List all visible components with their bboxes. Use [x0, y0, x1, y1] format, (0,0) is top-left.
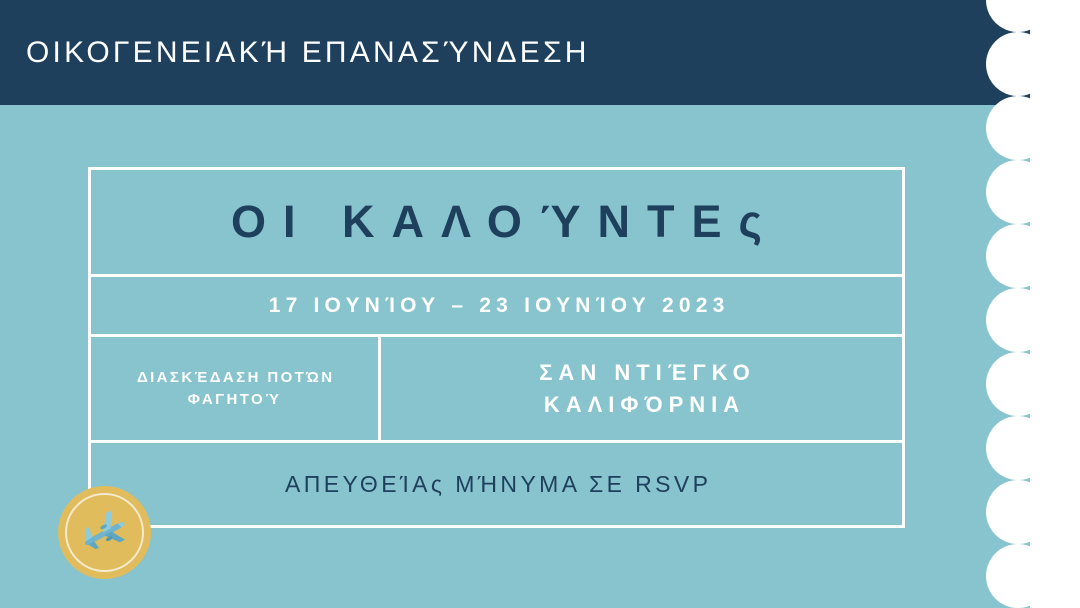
activities-line-2: ΦΑΓΗΤΟΎ	[188, 391, 282, 408]
header-title: ΟΙΚΟΓΕΝΕΙΑΚΉ ΕΠΑΝΑΣΎΝΔΕΣΗ	[26, 36, 590, 70]
ticket-title: ΟΙ ΚΑΛΟΎΝΤΕς	[91, 170, 902, 274]
ticket-cell-location: ΣΑΝ ΝΤΙΈΓΚΟ ΚΑΛΙΦΌΡΝΙΑ	[381, 337, 908, 440]
airplane-badge	[58, 486, 151, 579]
slide-canvas: ΟΙΚΟΓΕΝΕΙΑΚΉ ΕΠΑΝΑΣΎΝΔΕΣΗ ΟΙ ΚΑΛΟΎΝΤΕς 1…	[0, 0, 1032, 608]
ticket-box: ΟΙ ΚΑΛΟΎΝΤΕς 17 ΙΟΥΝΊΟΥ – 23 ΙΟΥΝΊΟΥ 202…	[88, 167, 905, 528]
location-text: ΣΑΝ ΝΤΙΈΓΚΟ ΚΑΛΙΦΌΡΝΙΑ	[533, 357, 756, 421]
ticket-cell-activities: ΔΙΑΣΚΈΔΑΣΗ ΠΟΤΏΝ ΦΑΓΗΤΟΎ	[91, 337, 378, 440]
right-white-margin	[1030, 0, 1080, 608]
activities-line-1: ΔΙΑΣΚΈΔΑΣΗ ΠΟΤΏΝ	[137, 369, 335, 386]
invitation-slide: ΟΙΚΟΓΕΝΕΙΑΚΉ ΕΠΑΝΑΣΎΝΔΕΣΗ ΟΙ ΚΑΛΟΎΝΤΕς 1…	[0, 0, 1080, 608]
location-line-2: ΚΑΛΙΦΌΡΝΙΑ	[544, 392, 745, 417]
ticket-footer-rsvp: ΑΠΕΥΘΕΊΑς ΜΉΝΥΜΑ ΣΕ RSVP	[91, 443, 902, 525]
activities-text: ΔΙΑΣΚΈΔΑΣΗ ΠΟΤΏΝ ΦΑΓΗΤΟΎ	[135, 367, 335, 411]
location-line-1: ΣΑΝ ΝΤΙΈΓΚΟ	[539, 360, 756, 385]
airplane-icon	[77, 505, 133, 561]
ticket-dates: 17 ΙΟΥΝΊΟΥ – 23 ΙΟΥΝΊΟΥ 2023	[91, 277, 902, 334]
